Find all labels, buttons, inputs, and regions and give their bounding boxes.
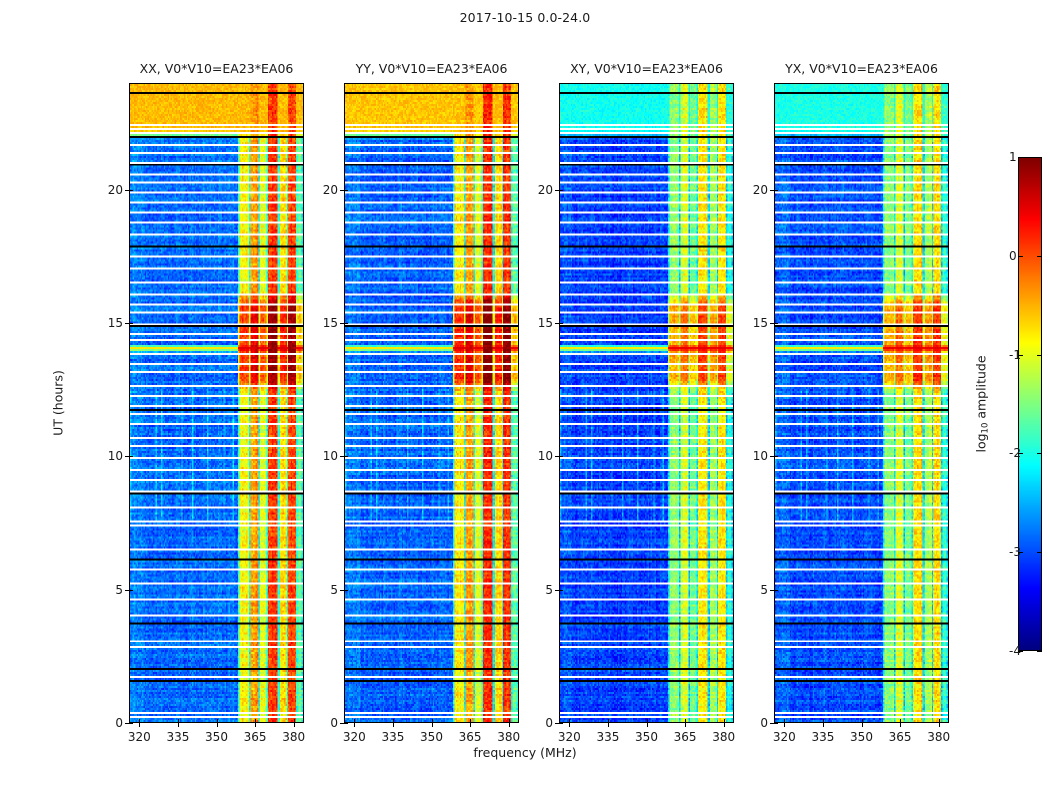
colorbar-tick-mark [1037, 552, 1042, 553]
y-tick-label: 0 [760, 716, 768, 730]
x-tick-label: 320 [558, 730, 581, 744]
y-tick-label: 20 [108, 183, 123, 197]
x-tick-mark [862, 723, 863, 727]
x-tick-mark-inner [724, 719, 725, 723]
panel-xx: XX, V0*V10=EA23*EA0632033535036538005101… [129, 83, 304, 723]
x-tick-label: 320 [343, 730, 366, 744]
y-tick-label: 5 [115, 583, 123, 597]
y-tick-label: 5 [330, 583, 338, 597]
y-tick-mark-inner [559, 590, 563, 591]
x-tick-mark-inner [294, 719, 295, 723]
x-tick-label: 335 [381, 730, 404, 744]
x-tick-mark-inner [255, 719, 256, 723]
y-tick-mark-inner [344, 190, 348, 191]
y-tick-mark-inner [559, 190, 563, 191]
y-tick-mark-inner [129, 456, 133, 457]
x-tick-label: 380 [927, 730, 950, 744]
x-tick-mark-inner [608, 719, 609, 723]
y-tick-label: 15 [108, 316, 123, 330]
y-tick-label: 10 [538, 449, 553, 463]
x-tick-label: 380 [712, 730, 735, 744]
y-tick-mark-inner [559, 723, 563, 724]
x-tick-mark [217, 723, 218, 727]
y-tick-mark-inner [559, 456, 563, 457]
y-tick-mark-inner [774, 456, 778, 457]
colorbar-tick-mark [1037, 651, 1042, 652]
panel-yy: YY, V0*V10=EA23*EA0632033535036538005101… [344, 83, 519, 723]
colorbar-tick-mark [1037, 157, 1042, 158]
x-tick-mark-inner [823, 719, 824, 723]
y-tick-label: 20 [753, 183, 768, 197]
y-tick-mark-inner [129, 723, 133, 724]
panel-title-yy: YY, V0*V10=EA23*EA06 [356, 61, 508, 76]
y-tick-label: 0 [545, 716, 553, 730]
colorbar-tick-mark [1018, 355, 1023, 356]
x-tick-mark [294, 723, 295, 727]
x-tick-label: 350 [420, 730, 443, 744]
y-tick-label: 5 [545, 583, 553, 597]
y-tick-label: 0 [115, 716, 123, 730]
x-tick-mark [178, 723, 179, 727]
panel-xy: XY, V0*V10=EA23*EA0632033535036538005101… [559, 83, 734, 723]
x-tick-mark [470, 723, 471, 727]
x-axis-label: frequency (MHz) [0, 745, 1050, 760]
x-tick-mark-inner [178, 719, 179, 723]
x-tick-label: 365 [244, 730, 267, 744]
x-tick-mark [569, 723, 570, 727]
y-tick-mark-inner [129, 323, 133, 324]
waterfall-image-xx[interactable] [129, 83, 304, 723]
waterfall-image-xy[interactable] [559, 83, 734, 723]
x-tick-mark [509, 723, 510, 727]
x-tick-mark [724, 723, 725, 727]
colorbar-tick-mark [1037, 256, 1042, 257]
colorbar-tick-mark [1018, 552, 1023, 553]
colorbar[interactable] [1018, 157, 1042, 651]
panel-title-xx: XX, V0*V10=EA23*EA06 [140, 61, 294, 76]
x-tick-mark-inner [569, 719, 570, 723]
waterfall-canvas [775, 84, 948, 722]
x-tick-label: 365 [459, 730, 482, 744]
waterfall-canvas [560, 84, 733, 722]
x-tick-label: 365 [674, 730, 697, 744]
x-tick-mark-inner [354, 719, 355, 723]
y-tick-label: 5 [760, 583, 768, 597]
waterfall-image-yx[interactable] [774, 83, 949, 723]
panel-title-xy: XY, V0*V10=EA23*EA06 [570, 61, 723, 76]
x-tick-label: 365 [889, 730, 912, 744]
y-tick-mark-inner [774, 323, 778, 324]
x-tick-label: 350 [850, 730, 873, 744]
colorbar-tick-mark [1018, 651, 1023, 652]
x-tick-mark [354, 723, 355, 727]
colorbar-tick-mark [1037, 355, 1042, 356]
y-tick-mark-inner [344, 723, 348, 724]
y-tick-mark-inner [129, 590, 133, 591]
waterfall-image-yy[interactable] [344, 83, 519, 723]
y-tick-mark-inner [774, 190, 778, 191]
y-tick-label: 15 [753, 316, 768, 330]
x-tick-mark-inner [939, 719, 940, 723]
y-tick-label: 10 [108, 449, 123, 463]
y-tick-mark-inner [344, 323, 348, 324]
y-tick-mark-inner [774, 590, 778, 591]
x-tick-label: 350 [205, 730, 228, 744]
colorbar-label-tail: amplitude [974, 355, 989, 422]
colorbar-label: log10 amplitude [974, 355, 991, 452]
x-tick-mark [255, 723, 256, 727]
figure-suptitle: 2017-10-15 0.0-24.0 [0, 10, 1050, 25]
panel-yx: YX, V0*V10=EA23*EA0632033535036538005101… [774, 83, 949, 723]
waterfall-canvas [130, 84, 303, 722]
x-tick-mark-inner [393, 719, 394, 723]
x-tick-label: 380 [497, 730, 520, 744]
x-tick-mark-inner [509, 719, 510, 723]
y-tick-mark-inner [344, 590, 348, 591]
x-tick-mark-inner [647, 719, 648, 723]
y-tick-label: 20 [538, 183, 553, 197]
x-tick-mark [139, 723, 140, 727]
x-tick-mark-inner [139, 719, 140, 723]
x-tick-mark-inner [217, 719, 218, 723]
y-tick-label: 15 [538, 316, 553, 330]
y-tick-mark-inner [559, 323, 563, 324]
colorbar-tick-mark [1037, 453, 1042, 454]
y-axis-label: UT (hours) [51, 370, 66, 436]
colorbar-gradient [1019, 158, 1041, 650]
x-tick-mark [608, 723, 609, 727]
y-tick-mark-inner [344, 456, 348, 457]
x-tick-mark [393, 723, 394, 727]
x-tick-label: 320 [128, 730, 151, 744]
x-tick-mark-inner [470, 719, 471, 723]
waterfall-canvas [345, 84, 518, 722]
colorbar-tick-mark [1018, 157, 1023, 158]
y-tick-mark-inner [129, 190, 133, 191]
y-tick-label: 20 [323, 183, 338, 197]
colorbar-tick-mark [1018, 453, 1023, 454]
x-tick-mark [647, 723, 648, 727]
y-tick-mark-inner [774, 723, 778, 724]
y-tick-label: 15 [323, 316, 338, 330]
x-tick-mark [939, 723, 940, 727]
x-tick-mark [900, 723, 901, 727]
x-tick-mark-inner [432, 719, 433, 723]
x-tick-label: 335 [811, 730, 834, 744]
x-tick-label: 350 [635, 730, 658, 744]
x-tick-mark [432, 723, 433, 727]
x-tick-mark [823, 723, 824, 727]
panel-title-yx: YX, V0*V10=EA23*EA06 [785, 61, 938, 76]
x-tick-label: 335 [596, 730, 619, 744]
x-tick-label: 335 [166, 730, 189, 744]
colorbar-label-sub: 10 [981, 423, 991, 434]
x-tick-label: 320 [773, 730, 796, 744]
x-tick-mark-inner [862, 719, 863, 723]
x-tick-mark-inner [784, 719, 785, 723]
x-tick-mark [685, 723, 686, 727]
colorbar-tick-mark [1018, 256, 1023, 257]
x-tick-mark-inner [900, 719, 901, 723]
y-tick-label: 0 [330, 716, 338, 730]
y-tick-label: 10 [753, 449, 768, 463]
x-tick-label: 380 [282, 730, 305, 744]
x-tick-mark [784, 723, 785, 727]
colorbar-label-base: log [974, 433, 989, 452]
y-tick-label: 10 [323, 449, 338, 463]
x-tick-mark-inner [685, 719, 686, 723]
